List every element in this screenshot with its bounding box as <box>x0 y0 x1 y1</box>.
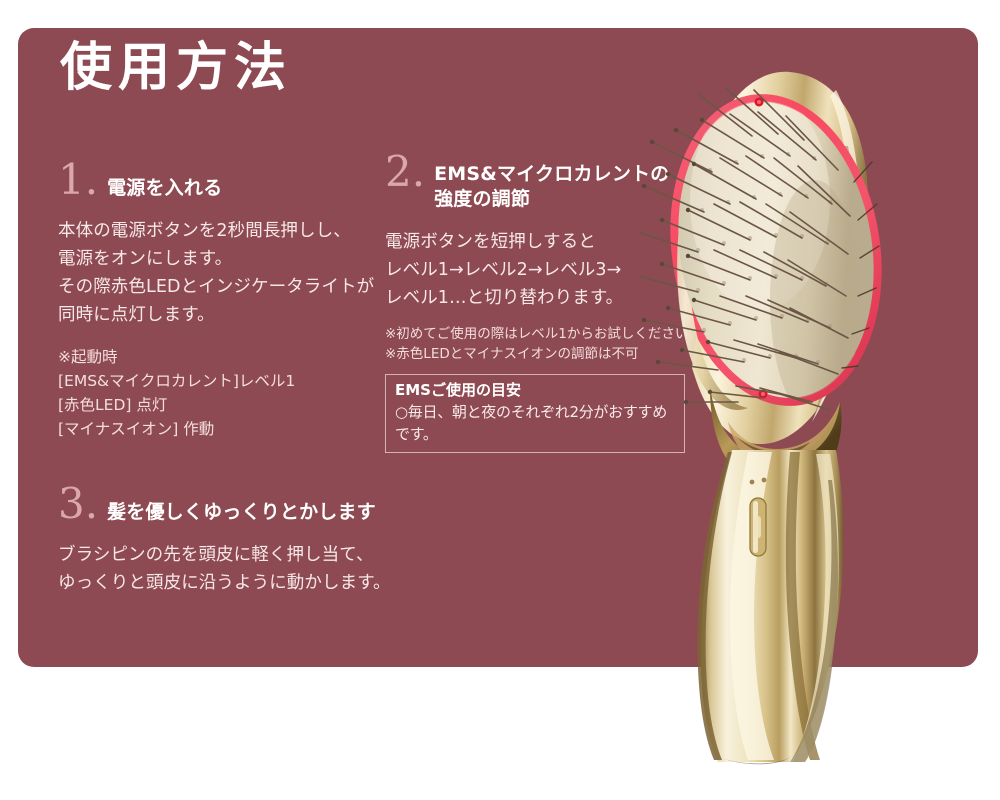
step-3: 3. 髪を優しくゆっくりとかします ブラシピンの先を頭皮に軽く押し当て、 ゆっく… <box>58 492 458 597</box>
step-2-number: 2. <box>385 154 425 190</box>
step-1-note: ※起動時 [EMS&マイクロカレント]レベル1 [赤色LED] 点灯 [マイナス… <box>58 345 378 441</box>
callout-title: EMSご使用の目安 <box>395 380 675 401</box>
step-3-title: 髪を優しくゆっくりとかします <box>107 492 376 525</box>
step-1-body: 本体の電源ボタンを2秒間長押しし、 電源をオンにします。 その際赤色LEDとイン… <box>58 217 378 329</box>
step-1-title: 電源を入れる <box>107 168 222 201</box>
ems-usage-callout: EMSご使用の目安 ○毎日、朝と夜のそれぞれ2分がおすすめです。 <box>385 374 685 453</box>
step-2-title: EMS&マイクロカレントの 強度の調節 <box>434 160 669 212</box>
page-title: 使用方法 <box>60 42 292 94</box>
step-1-number: 1. <box>58 162 98 198</box>
step-2-body: 電源ボタンを短押しすると レベル1→レベル2→レベル3→ レベル1…と切り替わり… <box>385 228 715 312</box>
step-2-subnote: ※初めてご使用の際はレベル1からお試しください。 ※赤色LEDとマイナスイオンの… <box>385 324 715 364</box>
step-3-number: 3. <box>58 486 98 522</box>
step-1-head: 1. 電源を入れる <box>58 168 378 201</box>
step-2-head: 2. EMS&マイクロカレントの 強度の調節 <box>385 160 715 212</box>
step-1: 1. 電源を入れる 本体の電源ボタンを2秒間長押しし、 電源をオンにします。 そ… <box>58 168 378 441</box>
callout-text: ○毎日、朝と夜のそれぞれ2分がおすすめです。 <box>395 401 675 445</box>
step-2: 2. EMS&マイクロカレントの 強度の調節 電源ボタンを短押しすると レベル1… <box>385 160 715 453</box>
step-3-body: ブラシピンの先を頭皮に軽く押し当て、 ゆっくりと頭皮に沿うように動かします。 <box>58 541 458 597</box>
step-3-head: 3. 髪を優しくゆっくりとかします <box>58 492 458 525</box>
